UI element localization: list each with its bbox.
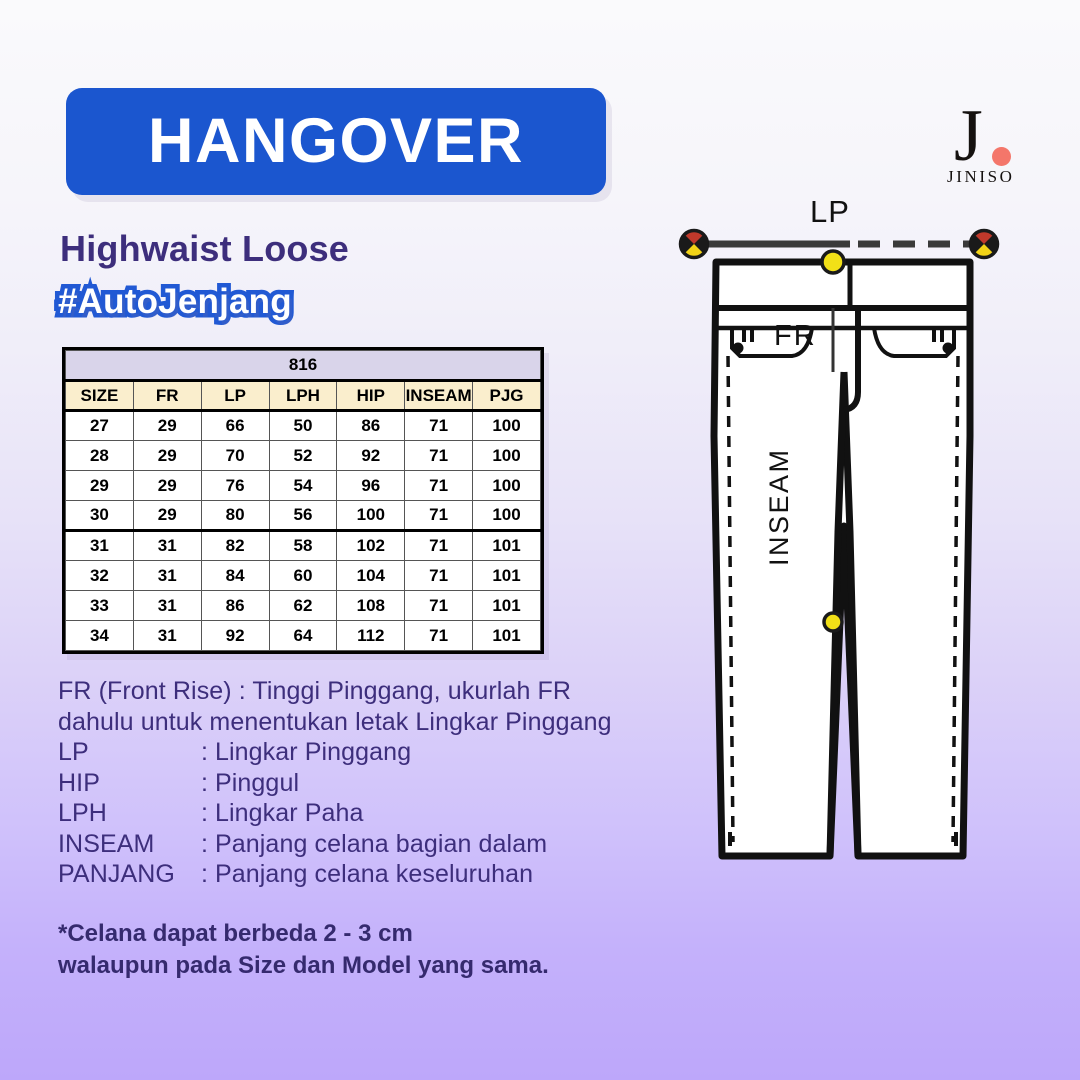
table-row: 292976549671100 [66,471,541,501]
cell-fr: 31 [133,531,201,561]
brand-logo: J JINISO [940,103,1045,191]
cell-lph: 58 [269,531,337,561]
legend-key: HIP [58,768,201,799]
cell-lp: 80 [201,501,269,531]
cell-lp: 76 [201,471,269,501]
cell-size: 32 [66,561,134,591]
cell-pjg: 100 [473,441,541,471]
cell-hip: 92 [337,441,405,471]
legend-separator: : [201,829,215,860]
logo-letter-j: J [954,99,983,173]
legend-value: Panjang celana keseluruhan [215,859,533,890]
cell-inseam: 71 [405,531,473,561]
cell-fr: 29 [133,441,201,471]
column-header-fr: FR [133,381,201,411]
cell-pjg: 101 [473,591,541,621]
table-row: 282970529271100 [66,441,541,471]
cell-fr: 31 [133,561,201,591]
legend-value: Panjang celana bagian dalam [215,829,547,860]
cell-lp: 66 [201,411,269,441]
column-header-size: SIZE [66,381,134,411]
cell-pjg: 100 [473,501,541,531]
pants-body [714,262,970,856]
table-row: 3431926411271101 [66,621,541,651]
fr-bottom-marker-icon [824,613,842,631]
cell-fr: 29 [133,501,201,531]
table-row: 3029805610071100 [66,501,541,531]
cell-hip: 102 [337,531,405,561]
cell-hip: 112 [337,621,405,651]
legend-item: HIP:Pinggul [58,768,698,799]
column-header-pjg: PJG [473,381,541,411]
legend: FR (Front Rise) : Tinggi Pinggang, ukurl… [58,676,698,890]
cell-lp: 70 [201,441,269,471]
column-header-inseam: INSEAM [405,381,473,411]
lp-label: LP [810,194,850,230]
legend-item: LPH:Lingkar Paha [58,798,698,829]
table-row: 3131825810271101 [66,531,541,561]
product-subtitle: Highwaist Loose [60,228,349,270]
legend-value: Pinggul [215,768,299,799]
cell-inseam: 71 [405,501,473,531]
cell-fr: 31 [133,621,201,651]
cell-lph: 64 [269,621,337,651]
cell-pjg: 101 [473,621,541,651]
cell-lp: 82 [201,531,269,561]
column-header-hip: HIP [337,381,405,411]
table-row: 3231846010471101 [66,561,541,591]
cell-size: 29 [66,471,134,501]
legend-key: PANJANG [58,859,201,890]
cell-size: 33 [66,591,134,621]
legend-separator: : [201,859,215,890]
legend-item: INSEAM:Panjang celana bagian dalam [58,829,698,860]
legend-fr-line1: FR (Front Rise) : Tinggi Pinggang, ukurl… [58,676,698,707]
legend-value: Lingkar Paha [215,798,364,829]
size-table: 816 SIZEFRLPLPHHIPINSEAMPJG 272966508671… [62,347,544,654]
legend-item: LP:Lingkar Pinggang [58,737,698,768]
cell-hip: 100 [337,501,405,531]
legend-key: LPH [58,798,201,829]
table-title: 816 [66,351,541,381]
cell-pjg: 100 [473,411,541,441]
fr-top-marker-icon [822,251,844,273]
product-banner: HANGOVER [66,88,606,195]
cell-pjg: 101 [473,531,541,561]
pants-diagram: LP FR INSEAM [672,196,1012,896]
cell-inseam: 71 [405,561,473,591]
cell-lph: 56 [269,501,337,531]
footnote: *Celana dapat berbeda 2 - 3 cm walaupun … [58,918,718,982]
table-header-row: SIZEFRLPLPHHIPINSEAMPJG [66,381,541,411]
fr-label: FR [774,320,817,353]
cell-fr: 29 [133,411,201,441]
pants-technical-drawing [672,196,1012,896]
legend-key: LP [58,737,201,768]
table-title-row: 816 [66,351,541,381]
cell-lph: 60 [269,561,337,591]
legend-separator: : [201,768,215,799]
cell-pjg: 101 [473,561,541,591]
cell-size: 31 [66,531,134,561]
cell-lp: 86 [201,591,269,621]
legend-separator: : [201,737,215,768]
legend-key: INSEAM [58,829,201,860]
legend-fr-line2: dahulu untuk menentukan letak Lingkar Pi… [58,707,698,738]
cell-fr: 29 [133,471,201,501]
footnote-line2: walaupun pada Size dan Model yang sama. [58,950,718,982]
cell-hip: 104 [337,561,405,591]
cell-size: 28 [66,441,134,471]
cell-size: 27 [66,411,134,441]
logo-wordmark: JINISO [947,167,1015,187]
cell-lph: 54 [269,471,337,501]
cell-size: 30 [66,501,134,531]
cell-pjg: 100 [473,471,541,501]
cell-size: 34 [66,621,134,651]
cell-lph: 62 [269,591,337,621]
cell-lph: 52 [269,441,337,471]
cell-hip: 86 [337,411,405,441]
legend-value: Lingkar Pinggang [215,737,411,768]
cell-inseam: 71 [405,441,473,471]
lp-endpoint-left-icon [680,230,708,258]
cell-inseam: 71 [405,621,473,651]
table-row: 3331866210871101 [66,591,541,621]
dot-icon [992,147,1011,166]
column-header-lph: LPH [269,381,337,411]
legend-separator: : [201,798,215,829]
inseam-label: INSEAM [764,447,795,566]
cell-lp: 84 [201,561,269,591]
cell-lp: 92 [201,621,269,651]
product-hashtag: #AutoJenjang [58,282,292,322]
cell-lph: 50 [269,411,337,441]
column-header-lp: LP [201,381,269,411]
footnote-line1: *Celana dapat berbeda 2 - 3 cm [58,918,718,950]
lp-endpoint-right-icon [970,230,998,258]
table-row: 272966508671100 [66,411,541,441]
cell-hip: 108 [337,591,405,621]
cell-inseam: 71 [405,471,473,501]
cell-fr: 31 [133,591,201,621]
legend-item: PANJANG:Panjang celana keseluruhan [58,859,698,890]
banner-title: HANGOVER [148,110,524,173]
cell-inseam: 71 [405,411,473,441]
cell-inseam: 71 [405,591,473,621]
size-chart-page: HANGOVER Highwaist Loose #AutoJenjang J … [0,0,1080,1080]
cell-hip: 96 [337,471,405,501]
